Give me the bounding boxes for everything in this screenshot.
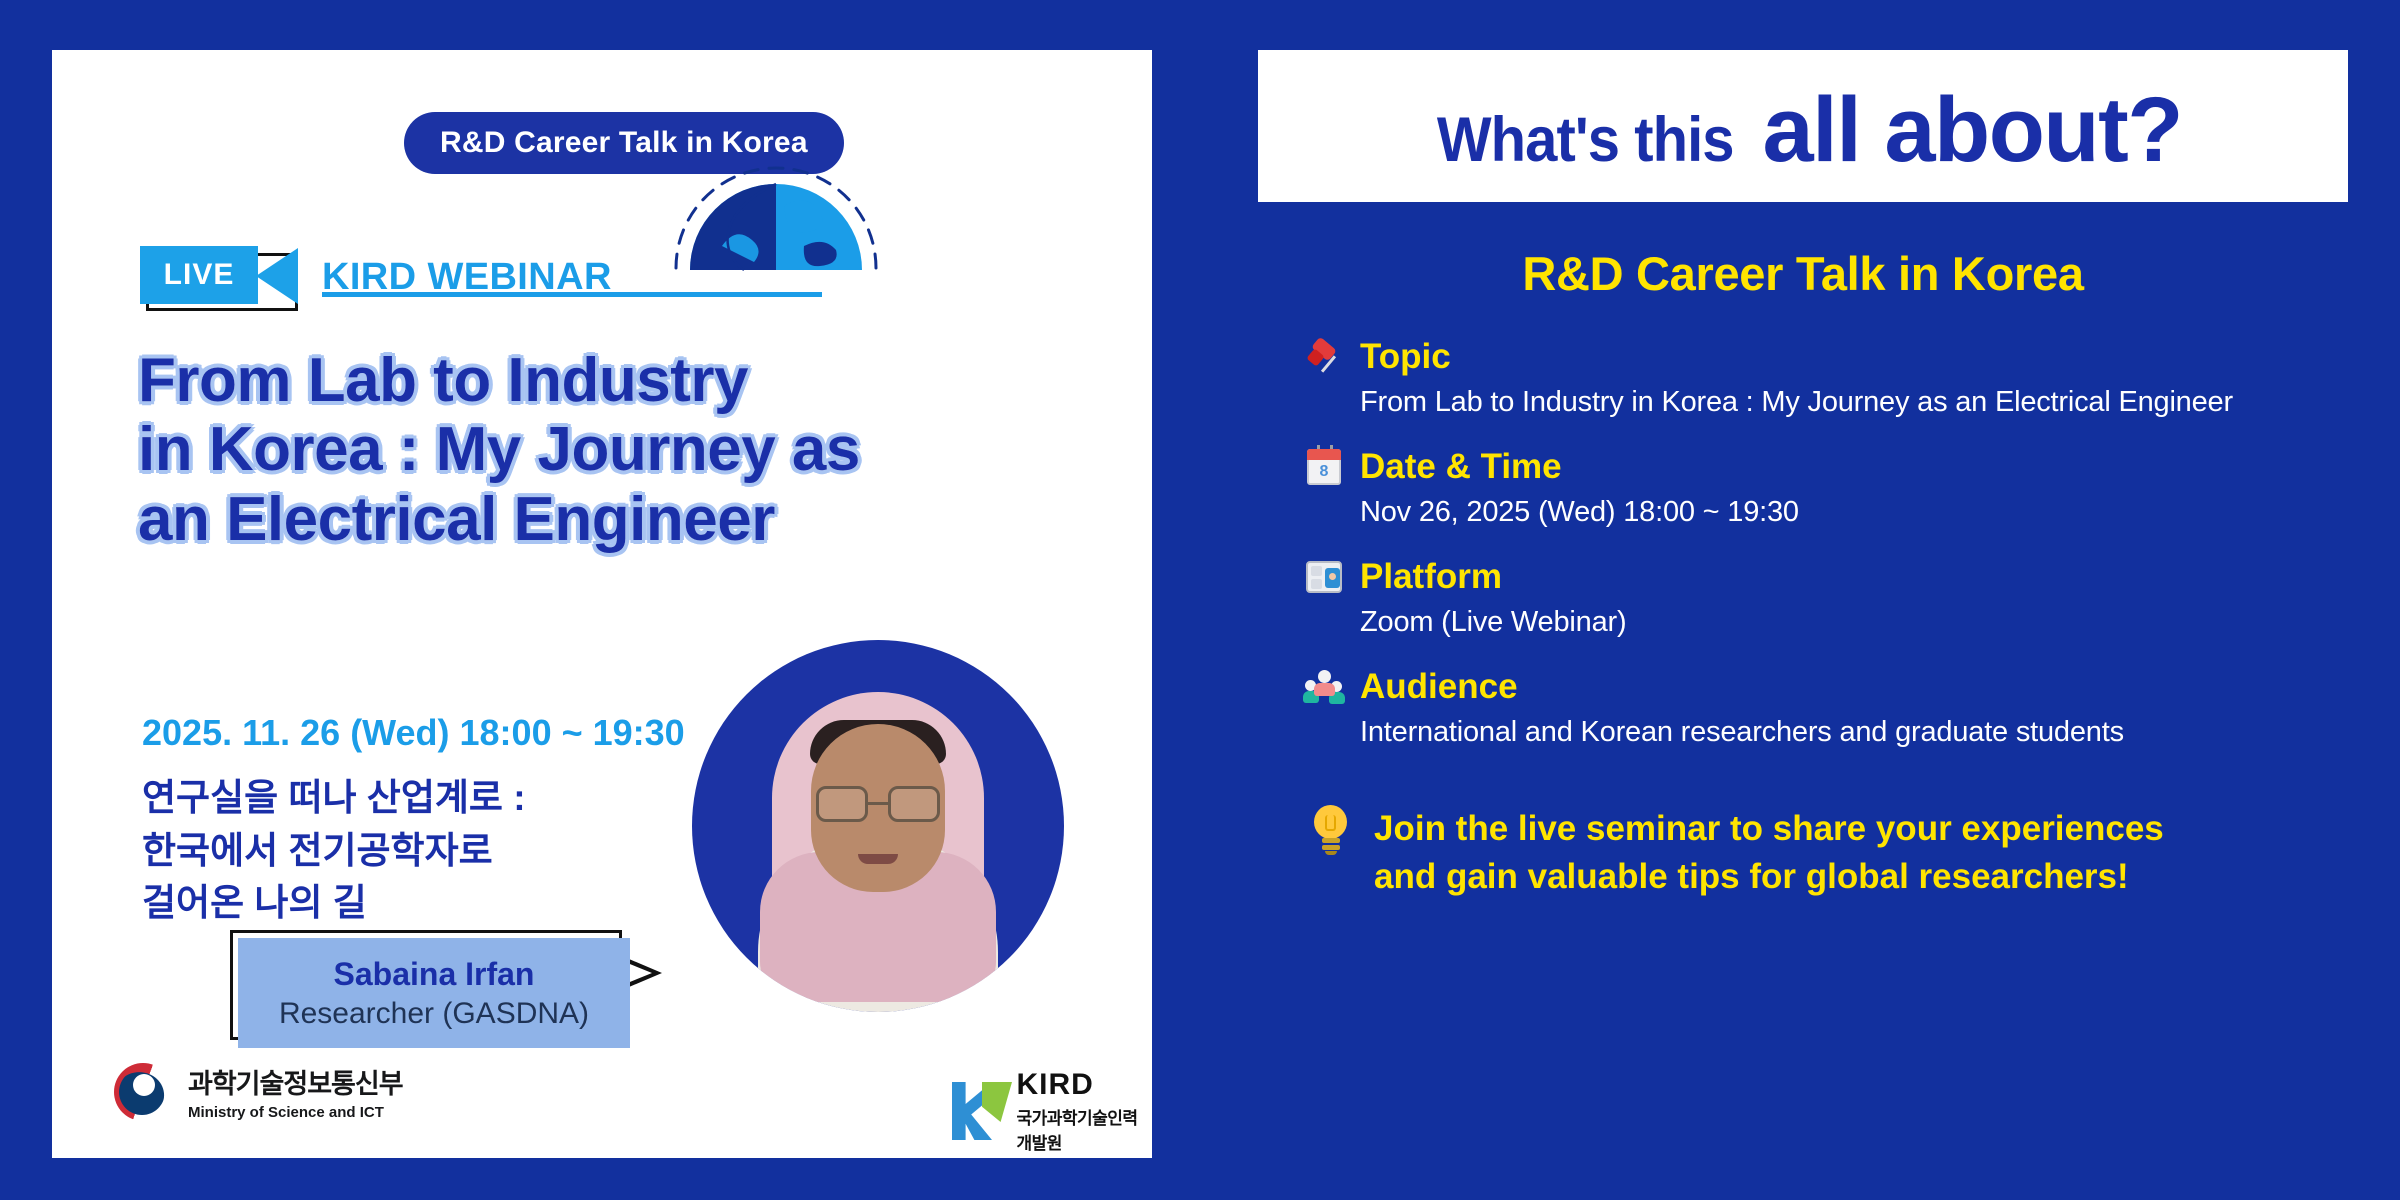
globe-illustration (652, 150, 1092, 285)
cta-line-2: and gain valuable tips for global resear… (1374, 853, 2164, 901)
kird-webinar-label: KIRD WEBINAR (322, 256, 612, 299)
pushpin-icon (1304, 337, 1344, 377)
poster-title-line-2: in Korea : My Journey as (138, 415, 1098, 484)
info-item-audience: Audience International and Korean resear… (1304, 667, 2302, 749)
info-item-platform: Platform Zoom (Live Webinar) (1304, 557, 2302, 639)
call-to-action: Join the live seminar to share your expe… (1304, 805, 2302, 900)
info-value-date-time: Nov 26, 2025 (Wed) 18:00 ~ 19:30 (1360, 496, 2302, 529)
kird-logo: KIRD 국가과학기술인력개발원 (952, 1068, 1152, 1154)
info-value-topic: From Lab to Industry in Korea : My Journ… (1360, 386, 2302, 419)
ministry-name-en: Ministry of Science and ICT (188, 1104, 403, 1121)
info-item-date-time: 8 Date & Time Nov 26, 2025 (Wed) 18:00 ~… (1304, 447, 2302, 529)
taegeuk-icon (114, 1063, 172, 1121)
speaker-name: Sabaina Irfan (334, 956, 535, 993)
info-item-topic: Topic From Lab to Industry in Korea : My… (1304, 337, 2302, 419)
poster-title-line-3: an Electrical Engineer (138, 485, 1098, 554)
calendar-day-number: 8 (1309, 464, 1339, 480)
kird-logo-subtext: 국가과학기술인력개발원 (1016, 1104, 1152, 1154)
panel-heading-small: What's this (1437, 104, 1734, 176)
info-value-platform: Zoom (Live Webinar) (1360, 606, 2302, 639)
ministry-name-kr: 과학기술정보통신부 (188, 1062, 403, 1101)
poster-date-line: 2025. 11. 26 (Wed) 18:00 ~ 19:30 (142, 712, 685, 754)
poster-title-line-1: From Lab to Industry (138, 346, 1098, 415)
poster-korean-line-1: 연구실을 떠나 산업계로 : (142, 772, 526, 825)
poster-korean-line-3: 걸어온 나의 길 (142, 877, 526, 930)
panel-body: R&D Career Talk in Korea Topic From Lab … (1258, 202, 2348, 1158)
info-list: Topic From Lab to Industry in Korea : My… (1304, 337, 2302, 749)
panel-header: What's this all about? (1258, 50, 2348, 202)
video-screen-icon (1304, 557, 1344, 597)
info-label-date-time: Date & Time (1360, 447, 1562, 487)
webinar-poster-card: R&D Career Talk in Korea LIVE KIRD WEBIN… (52, 50, 1152, 1158)
live-camera-icon: LIVE (140, 246, 300, 308)
speaker-callout: Sabaina Irfan Researcher (GASDNA) (238, 938, 630, 1048)
info-label-topic: Topic (1360, 337, 1451, 377)
live-webinar-row: LIVE KIRD WEBINAR (140, 246, 612, 308)
poster-title: From Lab to Industry in Korea : My Journ… (138, 346, 1098, 554)
speaker-role: Researcher (GASDNA) (279, 997, 589, 1031)
speaker-portrait (692, 640, 1064, 1012)
poster-korean-line-2: 한국에서 전기공학자로 (142, 825, 526, 878)
kird-logo-text: KIRD (1016, 1068, 1152, 1102)
info-value-audience: International and Korean researchers and… (1360, 716, 2302, 749)
calendar-icon: 8 (1304, 447, 1344, 487)
cta-text: Join the live seminar to share your expe… (1374, 805, 2164, 900)
details-panel: What's this all about? R&D Career Talk i… (1258, 50, 2348, 1158)
panel-title: R&D Career Talk in Korea (1304, 202, 2302, 301)
poster-korean-subtitle: 연구실을 떠나 산업계로 : 한국에서 전기공학자로 걸어온 나의 길 (142, 772, 526, 930)
live-badge-label: LIVE (164, 258, 235, 292)
info-label-platform: Platform (1360, 557, 1502, 597)
cta-line-1: Join the live seminar to share your expe… (1374, 805, 2164, 853)
ministry-of-science-logo: 과학기술정보통신부 Ministry of Science and ICT (114, 1062, 403, 1121)
people-icon (1304, 667, 1344, 707)
poster-canvas: R&D Career Talk in Korea LIVE KIRD WEBIN… (0, 0, 2400, 1200)
panel-heading-big: all about? (1763, 78, 2182, 183)
info-label-audience: Audience (1360, 667, 1518, 707)
lightbulb-icon (1310, 805, 1352, 855)
kird-mark-icon (952, 1082, 1002, 1140)
